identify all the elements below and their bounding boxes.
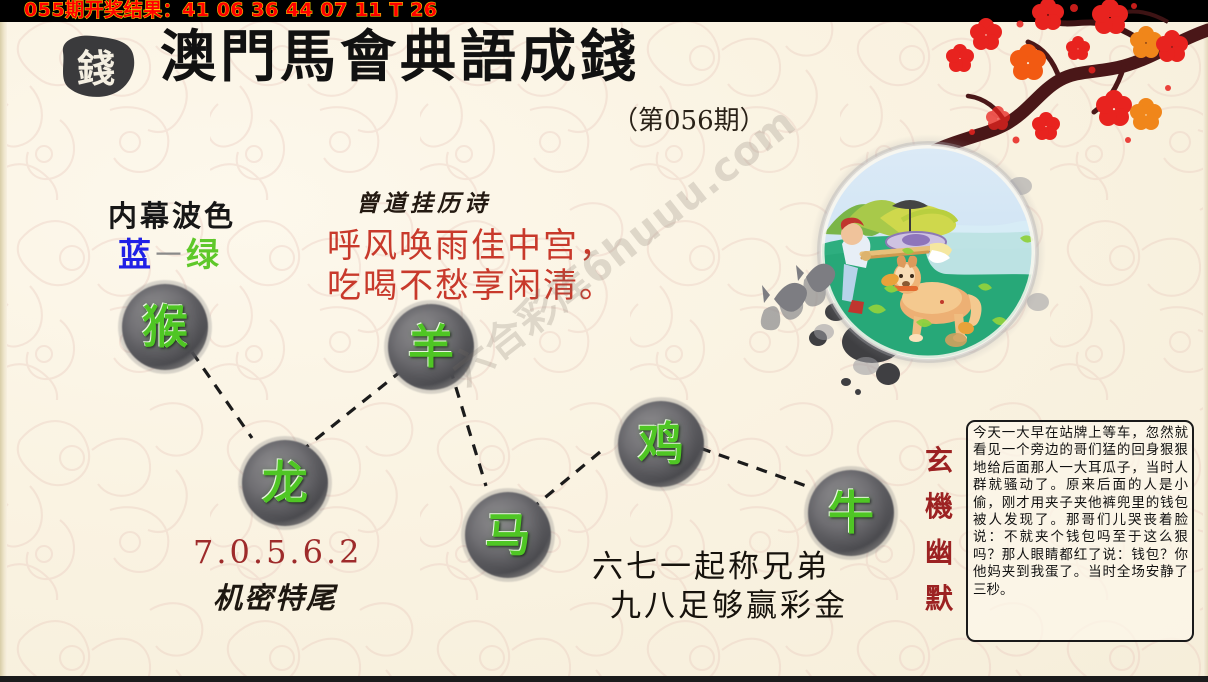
seal-character: 錢 (55, 32, 137, 98)
inside-wave-color-values: 蓝－绿 (118, 228, 220, 276)
page-title: 澳門馬會典語成錢 (160, 28, 640, 87)
secret-tail-numbers: 7.0.5.6.2 (193, 533, 362, 571)
rhyme-line-2: 九八足够赢彩金 (610, 580, 848, 625)
zodiac-label: 牛 (828, 490, 874, 536)
humor-story-text: 今天一大早在站牌上等车，忽然就看见一个旁边的哥们猛的回身狠狠地给后面那人一大耳瓜… (973, 425, 1188, 599)
zodiac-node[interactable]: 龙 (242, 440, 328, 526)
zodiac-label: 猴 (142, 304, 188, 350)
zodiac-node[interactable]: 鸡 (618, 401, 704, 487)
zodiac-label: 龙 (262, 460, 308, 506)
secret-tail-label: 机密特尾 (213, 575, 337, 617)
zodiac-label: 羊 (408, 324, 454, 370)
vertical-title-char: 默 (918, 576, 960, 622)
vertical-title-char: 幽 (918, 530, 960, 576)
ink-fish-decoration (760, 255, 850, 335)
zodiac-node[interactable]: 马 (465, 492, 551, 578)
left-edge-border (0, 0, 7, 682)
zodiac-node[interactable]: 羊 (388, 304, 474, 390)
zodiac-label: 马 (485, 512, 531, 558)
issue-number: （第056期） (612, 100, 766, 137)
wave-color-separator: － (152, 235, 186, 274)
vertical-title-char: 玄 (918, 438, 960, 484)
humor-story-box: 今天一大早在站牌上等车，忽然就看见一个旁边的哥们猛的回身狠狠地给后面那人一大耳瓜… (966, 420, 1194, 642)
zodiac-node[interactable]: 猴 (122, 284, 208, 370)
lottery-result-text: 055期开奖结果：41 06 36 44 07 11 T 26 (24, 0, 438, 21)
wave-color-green: 绿 (186, 235, 220, 274)
poem-line-2: 吃喝不愁享闲清。 (327, 258, 615, 307)
vertical-title-char: 機 (918, 484, 960, 530)
zodiac-label: 鸡 (638, 421, 684, 467)
poem-heading: 曾道挂历诗 (356, 184, 491, 218)
poster-root: 055期开奖结果：41 06 36 44 07 11 T 26 (0, 0, 1208, 682)
bottom-edge-border (0, 676, 1208, 682)
seal-stamp: 錢 (55, 32, 137, 98)
mystery-humor-vertical-title: 玄 機 幽 默 (918, 438, 960, 622)
wave-color-blue: 蓝 (118, 235, 152, 274)
